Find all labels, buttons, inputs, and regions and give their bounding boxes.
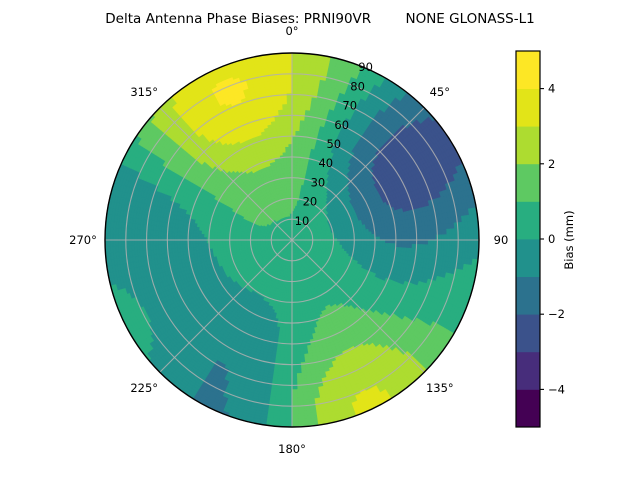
colorbar-tick-label: 0 [548,232,555,246]
colorbar: 420−2−4 Bias (mm) [516,51,576,427]
colorbar-tick-label: −4 [548,382,565,396]
colorbar-tick-label: −2 [548,307,565,321]
colorbar-tick-label: 4 [548,82,555,96]
azimuth-tick-180: 180° [278,442,306,456]
azimuth-tick-90: 90 [494,233,509,247]
figure-canvas: Delta Antenna Phase Biases: PRNI90VR NON… [0,0,640,480]
colorbar-band-2 [516,314,540,352]
azimuth-tick-270: 270° [69,233,97,247]
radial-tick-40: 40 [318,156,333,170]
colorbar-tick-label: 2 [548,157,555,171]
colorbar-band-6 [516,164,540,202]
radial-tick-30: 30 [311,175,326,189]
radial-tick-70: 70 [342,99,357,113]
page-title: Delta Antenna Phase Biases: PRNI90VR NON… [0,11,640,27]
azimuth-tick-45: 45° [430,85,450,99]
polar-grid [105,53,479,427]
radial-tick-20: 20 [303,195,318,209]
azimuth-tick-225: 225° [130,381,158,395]
colorbar-band-0 [516,389,540,427]
colorbar-band-4 [516,239,540,277]
azimuth-tick-135: 135° [426,381,454,395]
colorbar-band-1 [516,352,540,390]
colorbar-bands [516,51,540,427]
colorbar-band-5 [516,201,540,239]
radial-tick-10: 10 [295,214,310,228]
radial-tick-80: 80 [350,79,365,93]
colorbar-band-3 [516,277,540,315]
radial-tick-90: 90 [358,60,373,74]
polar-contour-plot: 0°45°90135°180°225°270°315° 102030405060… [0,0,640,480]
colorbar-band-9 [516,51,540,89]
radial-tick-60: 60 [334,118,349,132]
azimuth-tick-315: 315° [130,85,158,99]
colorbar-band-8 [516,89,540,127]
radial-tick-50: 50 [326,137,341,151]
colorbar-band-7 [516,126,540,164]
colorbar-axis-label: Bias (mm) [562,210,576,269]
